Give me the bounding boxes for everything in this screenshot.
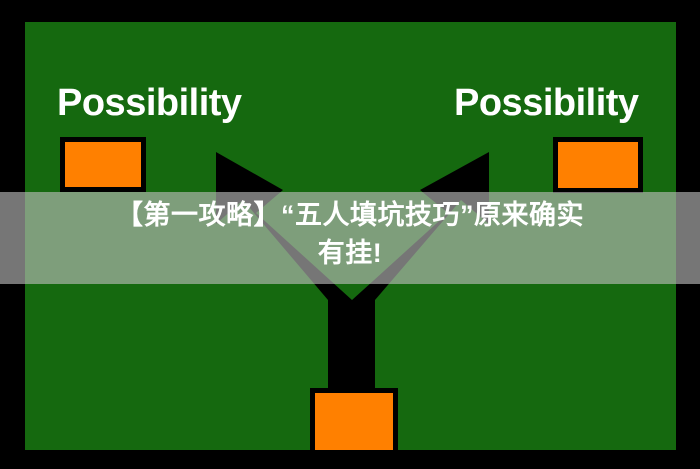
thumbnail-image: Possibility Possibility 【第一攻略】“五人填坑技巧”原来… (0, 0, 700, 469)
title-banner-text: 【第一攻略】“五人填坑技巧”原来确实 有挂! (0, 196, 700, 272)
possibility-label-right: Possibility (454, 84, 639, 122)
title-line-2: 有挂! (40, 234, 660, 272)
title-line-1: 【第一攻略】“五人填坑技巧”原来确实 (40, 196, 660, 234)
orange-box-left-outcome (60, 137, 146, 192)
possibility-label-left: Possibility (57, 84, 242, 122)
orange-box-right-outcome (553, 137, 643, 193)
orange-box-origin (310, 388, 398, 450)
